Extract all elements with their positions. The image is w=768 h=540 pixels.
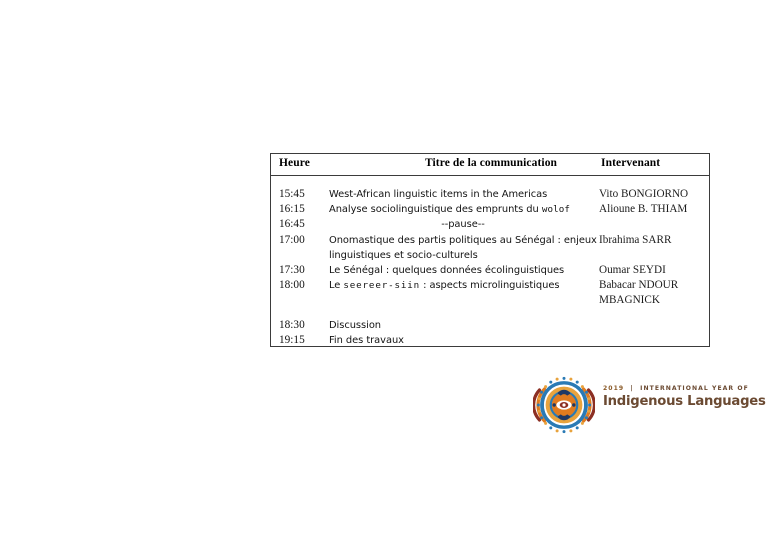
table-row: 17:30 Le Sénégal : quelques données écol… [271,263,709,278]
row-time: 18:30 [279,318,327,333]
iyil-separator: | [631,385,634,392]
row-title-term: wolof [542,204,570,215]
row-speaker: Alioune B. THIAM [599,202,707,217]
table-row: 16:15 Analyse sociolinguistique des empr… [271,202,709,217]
row-speaker-line2: MBAGNICK [599,293,707,308]
iyil-tagline: 2019 | INTERNATIONAL YEAR OF [603,385,727,392]
indigenous-languages-emblem-icon [533,374,595,436]
row-title-suffix: : aspects microlinguistiques [420,280,559,291]
row-title: Discussion [329,318,597,333]
row-title: Analyse sociolinguistique des emprunts d… [329,202,597,217]
iyil-2019-logo: 2019 | INTERNATIONAL YEAR OF Indigenous … [533,374,725,436]
table-row: 16:45 --pause-- [271,217,709,232]
column-header-speaker: Intervenant [271,157,705,169]
row-speaker: Oumar SEYDI [599,263,707,278]
row-time: 17:00 [279,233,327,248]
row-title: Fin des travaux [329,333,597,348]
row-title-prefix: Le [329,280,343,291]
program-schedule-table: Heure Titre de la communication Interven… [270,153,710,347]
body-top-spacer [271,176,709,187]
row-time: 15:45 [279,187,327,202]
row-gap-spacer [271,309,709,318]
row-time: 16:15 [279,202,327,217]
row-title: Le Sénégal : quelques données écolinguis… [329,263,597,278]
row-title-prefix: Analyse sociolinguistique des emprunts d… [329,204,542,215]
table-row: 17:00 Onomastique des partis politiques … [271,233,709,263]
row-title: Le seereer-siin : aspects microlinguisti… [329,278,597,293]
iyil-year: 2019 [603,385,624,392]
table-row: 18:30 Discussion [271,318,709,333]
iyil-name: Indigenous Languages [603,394,727,409]
row-title: Onomastique des partis politiques au Sén… [329,233,597,263]
table-row: 18:00 Le seereer-siin : aspects microlin… [271,278,709,308]
table-body: 15:45 West-African linguistic items in t… [271,176,709,348]
row-time: 17:30 [279,263,327,278]
row-title: West-African linguistic items in the Ame… [329,187,597,202]
table-row: 19:15 Fin des travaux [271,333,709,348]
row-time: 18:00 [279,278,327,293]
row-time: 19:15 [279,333,327,348]
iyil-tagline-text: INTERNATIONAL YEAR OF [640,385,749,392]
row-title: --pause-- [329,217,597,232]
table-row: 15:45 West-African linguistic items in t… [271,187,709,202]
row-speaker-line1: Babacar NDOUR [599,278,707,293]
table-header-row: Heure Titre de la communication Interven… [271,154,709,176]
row-title-term: seereer-siin [343,280,420,291]
iyil-logo-text: 2019 | INTERNATIONAL YEAR OF Indigenous … [603,385,727,409]
row-speaker: Ibrahima SARR [599,233,707,248]
row-speaker: Vito BONGIORNO [599,187,707,202]
row-speaker: Babacar NDOURMBAGNICK [599,278,707,308]
row-time: 16:45 [279,217,327,232]
